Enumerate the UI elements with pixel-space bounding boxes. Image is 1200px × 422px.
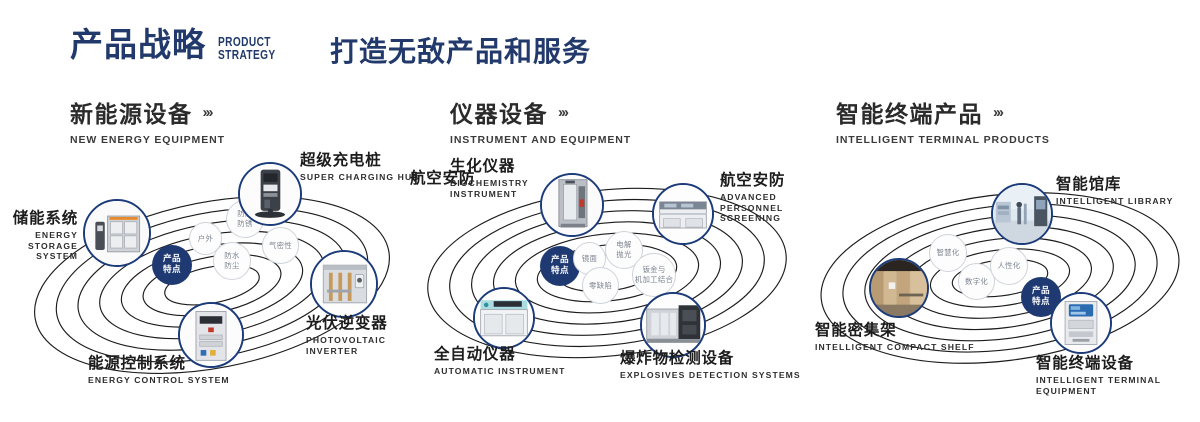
intelligent-library-icon <box>993 183 1051 245</box>
node-label-cn: 生化仪器 <box>450 158 546 176</box>
chevron-right-icon: ››› <box>993 104 1002 121</box>
page-title-en: PRODUCT STRATEGY <box>218 35 276 61</box>
core-line2: 特点 <box>163 265 181 276</box>
node-label-en: INTELLIGENT COMPACT SHELF <box>815 342 975 353</box>
node-intelligent-library[interactable] <box>991 183 1053 245</box>
feature-bubble: 钣金与 机加工结合 <box>632 253 676 297</box>
feature-line2: 抛光 <box>616 250 631 260</box>
node-intelligent-terminal-equipment[interactable] <box>1050 292 1112 354</box>
node-intelligent-compact-shelf[interactable] <box>869 258 929 318</box>
section-title-intelligent-terminal: 智能终端产品 ››› INTELLIGENT TERMINAL PRODUCTS <box>836 95 1050 146</box>
label-explosives-detection-systems: 爆炸物检测设备 EXPLOSIVES DETECTION SYSTEMS <box>620 350 801 381</box>
feature-bubble: 零缺陷 <box>582 267 619 304</box>
label-intelligent-library: 智能馆库 INTELLIGENT LIBRARY <box>1056 176 1174 207</box>
feature-line1: 户外 <box>198 234 213 243</box>
feature-line1: 数字化 <box>965 277 988 286</box>
node-label-cn: 智能终端设备 <box>1036 355 1200 373</box>
node-label-en: INTELLIGENT TERMINAL EQUIPMENT <box>1036 375 1200 396</box>
section-title-en: NEW ENERGY EQUIPMENT <box>70 134 225 146</box>
feature-line2: 防尘 <box>224 261 239 271</box>
page-title-cn: 产品战略 <box>70 28 206 63</box>
feature-line1: 智慧化 <box>936 248 959 257</box>
node-energy-storage-system[interactable] <box>83 199 151 267</box>
node-automatic-instrument[interactable] <box>473 287 535 349</box>
label-intelligent-terminal-equipment: 智能终端设备 INTELLIGENT TERMINAL EQUIPMENT <box>1036 355 1200 396</box>
personnel-screening-icon <box>654 183 712 245</box>
feature-bubble: 气密性 <box>262 227 299 264</box>
feature-line2: 防锈 <box>237 219 252 229</box>
label-biochemistry-instrument: 生化仪器 BIOCHEMISTRY INSTRUMENT <box>450 158 546 199</box>
label-energy-control-system: 能源控制系统 ENERGY CONTROL SYSTEM <box>88 355 230 386</box>
section-title-en: INSTRUMENT AND EQUIPMENT <box>450 134 631 146</box>
section-title-cn: 智能终端产品 <box>836 95 983 129</box>
energy-storage-cabinet-icon <box>85 199 149 267</box>
node-label-en: ENERGY STORAGE SYSTEM <box>0 230 78 262</box>
feature-bubble: 人性化 <box>990 247 1028 285</box>
feature-line1: 人性化 <box>997 261 1020 270</box>
page-title-en-line2: STRATEGY <box>218 48 276 61</box>
node-label-cn: 能源控制系统 <box>88 355 230 373</box>
biochemistry-instrument-icon <box>542 173 602 237</box>
node-label-en: EXPLOSIVES DETECTION SYSTEMS <box>620 370 801 381</box>
node-label-cn: 全自动仪器 <box>434 346 565 364</box>
label-automatic-instrument: 全自动仪器 AUTOMATIC INSTRUMENT <box>434 346 565 377</box>
section-title-new-energy: 新能源设备 ››› NEW ENERGY EQUIPMENT <box>70 95 225 146</box>
terminal-kiosk-icon <box>1052 292 1110 354</box>
node-label-cn: 智能密集架 <box>815 322 975 340</box>
node-super-charging-hub[interactable] <box>238 162 302 226</box>
feature-bubble: 防水 防尘 <box>213 242 251 280</box>
core-line1: 产品 <box>163 254 181 265</box>
feature-line1: 气密性 <box>269 241 292 250</box>
node-label-cn: 储能系统 <box>0 210 78 228</box>
section-title-instrument: 仪器设备 ››› INSTRUMENT AND EQUIPMENT <box>450 95 631 146</box>
core-badge: 产品 特点 <box>152 245 192 285</box>
node-label-en: AUTOMATIC INSTRUMENT <box>434 366 565 377</box>
label-intelligent-compact-shelf: 智能密集架 INTELLIGENT COMPACT SHELF <box>815 322 975 353</box>
section-title-cn: 新能源设备 <box>70 95 193 129</box>
node-label-en: BIOCHEMISTRY INSTRUMENT <box>450 178 546 199</box>
feature-line1: 镜面 <box>582 254 597 263</box>
node-label-cn: 智能馆库 <box>1056 176 1174 194</box>
feature-line1: 防水 <box>224 251 239 261</box>
label-energy-storage-system: 储能系统 ENERGY STORAGE SYSTEM <box>0 210 78 262</box>
panel-instrument-and-equipment: 产品 特点 镜面 电解 抛光 零缺陷 钣金与 机加工结合 航空安防 <box>400 150 820 410</box>
section-title-cn: 仪器设备 <box>450 95 548 129</box>
node-label-en: INTELLIGENT LIBRARY <box>1056 196 1174 207</box>
feature-line2: 机加工结合 <box>635 275 673 285</box>
node-advanced-personnel-screening[interactable] <box>652 183 714 245</box>
photovoltaic-inverter-icon <box>312 250 376 318</box>
core-line2: 特点 <box>551 266 569 277</box>
panel-intelligent-terminal-products: 产品 特点 智慧化 数字化 人性化 <box>800 150 1200 410</box>
node-label-en: ENERGY CONTROL SYSTEM <box>88 375 230 386</box>
node-photovoltaic-inverter[interactable] <box>310 250 378 318</box>
node-label-cn: 爆炸物检测设备 <box>620 350 801 368</box>
page-header: 产品战略 PRODUCT STRATEGY <box>70 28 292 63</box>
section-title-en: INTELLIGENT TERMINAL PRODUCTS <box>836 134 1050 146</box>
feature-bubble: 智慧化 <box>929 234 967 272</box>
feature-line1: 电解 <box>616 240 631 250</box>
feature-line1: 零缺陷 <box>589 281 612 290</box>
chevron-right-icon: ››› <box>203 104 212 121</box>
charging-pile-icon <box>240 162 300 226</box>
compact-shelf-icon <box>871 258 927 318</box>
page-tagline: 打造无敌产品和服务 <box>330 30 591 70</box>
panel-new-energy-equipment: 产品 特点 户外 防腐 防锈 防水 防尘 气密性 <box>0 150 420 410</box>
product-strategy-infographic: 产品战略 PRODUCT STRATEGY 打造无敌产品和服务 新能源设备 ››… <box>0 0 1200 422</box>
feature-line1: 钣金与 <box>635 265 673 275</box>
automatic-instrument-icon <box>475 287 533 349</box>
node-biochemistry-instrument[interactable] <box>540 173 604 237</box>
chevron-right-icon: ››› <box>558 104 567 121</box>
core-line1: 产品 <box>1032 286 1050 297</box>
core-line1: 产品 <box>551 255 569 266</box>
core-line2: 特点 <box>1032 297 1050 308</box>
